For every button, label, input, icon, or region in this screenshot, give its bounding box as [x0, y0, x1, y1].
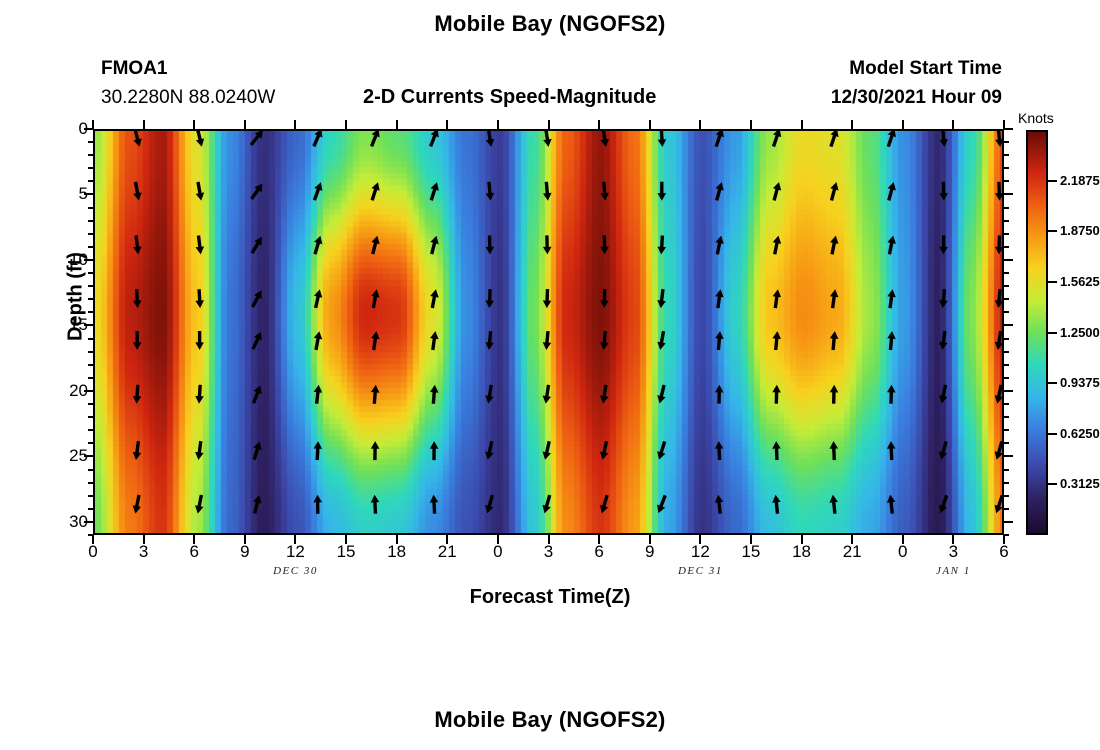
y-tick-minor — [1004, 246, 1009, 248]
y-tick-minor — [1004, 482, 1009, 484]
y-tick-mark — [84, 259, 93, 261]
x-tick-mark — [294, 535, 296, 544]
x-tick-mark — [396, 535, 398, 544]
x-tick-label: 21 — [427, 542, 467, 562]
current-vector-arrow — [887, 495, 896, 514]
x-tick-label: 0 — [883, 542, 923, 562]
x-tick-label: 0 — [73, 542, 113, 562]
current-vector-arrow — [430, 441, 439, 460]
y-tick-label: 15 — [48, 316, 88, 333]
y-tick-minor — [1004, 207, 1009, 209]
heatmap-plot-area — [93, 129, 1004, 535]
current-vector-arrow — [431, 182, 439, 200]
current-vector-arrow — [715, 289, 724, 308]
current-vector-arrow — [195, 495, 204, 514]
x-tick-mark — [750, 535, 752, 544]
current-vector-arrow — [716, 182, 724, 200]
x-tick-label: 9 — [630, 542, 670, 562]
current-vector-arrow — [887, 236, 896, 255]
current-vector-arrow — [715, 236, 723, 255]
current-vector-arrow — [657, 442, 665, 460]
x-tick-mark — [193, 535, 195, 544]
y-tick-minor — [1004, 429, 1009, 431]
y-tick-minor — [1004, 469, 1009, 471]
chart-page: Mobile Bay (NGOFS2) FMOA1 30.2280N 88.02… — [0, 0, 1100, 750]
x-tick-mark — [497, 535, 499, 544]
current-vector-arrow — [254, 385, 262, 403]
current-vector-arrow — [600, 289, 609, 308]
x-tick-mark — [699, 535, 701, 544]
x-tick-mark-top — [143, 120, 145, 129]
x-tick-mark — [598, 535, 600, 544]
y-tick-mark — [84, 324, 93, 326]
current-vector-arrow — [133, 289, 142, 308]
current-vector-arrow — [601, 131, 610, 147]
current-vector-arrow — [253, 442, 261, 460]
current-vector-arrow — [995, 182, 1004, 201]
current-vector-arrow — [133, 495, 141, 514]
x-tick-label: 21 — [832, 542, 872, 562]
y-tick-mark — [84, 455, 93, 457]
current-vector-arrow — [830, 385, 839, 404]
current-vector-arrow — [773, 289, 782, 308]
y-tick-minor — [1004, 311, 1009, 313]
x-tick-mark — [345, 535, 347, 544]
current-vector-arrow — [887, 289, 896, 308]
current-vector-arrow — [995, 385, 1003, 404]
colorbar-tick-mark — [1048, 332, 1057, 334]
station-coordinates-label: 30.2280N 88.0240W — [101, 87, 275, 109]
current-vector-arrow — [314, 289, 322, 308]
current-vector-arrow — [773, 182, 781, 200]
current-vector-arrow — [715, 331, 724, 350]
chart-subtitle: 2-D Currents Speed-Magnitude — [363, 86, 656, 109]
y-tick-mark — [84, 193, 93, 195]
current-vector-arrow — [995, 131, 1004, 147]
colorbar-tick-mark — [1048, 180, 1057, 182]
current-vector-arrow — [486, 235, 495, 254]
colorbar-tick-mark — [1048, 382, 1057, 384]
x-tick-mark-top — [952, 120, 954, 129]
x-tick-mark — [446, 535, 448, 544]
y-tick-label: 10 — [48, 251, 88, 268]
y-tick-minor — [1004, 154, 1009, 156]
model-start-time-value: 12/30/2021 Hour 09 — [831, 87, 1002, 109]
x-tick-label: 3 — [933, 542, 973, 562]
y-tick-minor — [1004, 508, 1009, 510]
current-vector-arrow — [133, 236, 142, 255]
x-tick-label: 12 — [275, 542, 315, 562]
current-vector-arrow — [196, 131, 204, 147]
y-tick-mark-right — [1004, 455, 1013, 457]
current-vector-arrow — [253, 290, 262, 307]
current-vector-arrow — [371, 331, 380, 350]
colorbar-tick-label: 1.5625 — [1060, 274, 1100, 289]
y-tick-minor — [1004, 180, 1009, 182]
y-tick-label: 25 — [48, 447, 88, 464]
current-vector-arrow — [829, 495, 838, 514]
y-tick-minor — [1004, 416, 1009, 418]
current-vector-arrow — [995, 289, 1004, 308]
current-vector-arrow — [830, 331, 839, 350]
current-vector-arrow — [995, 235, 1004, 254]
current-vector-arrow — [939, 289, 948, 308]
y-tick-minor — [1004, 495, 1009, 497]
y-axis-title: Depth (ft) — [65, 217, 88, 377]
current-vector-arrow — [715, 495, 724, 514]
x-tick-mark-top — [750, 120, 752, 129]
y-tick-label: 0 — [48, 120, 88, 137]
current-vector-arrow — [716, 131, 724, 147]
model-start-time-label: Model Start Time — [849, 58, 1002, 80]
x-tick-mark-top — [548, 120, 550, 129]
x-tick-mark-top — [92, 120, 94, 129]
current-vector-arrow — [657, 495, 665, 513]
x-tick-label: 3 — [529, 542, 569, 562]
current-vector-arrow — [888, 182, 896, 200]
station-id-label: FMOA1 — [101, 58, 168, 80]
x-tick-label: 6 — [579, 542, 619, 562]
current-vector-arrow — [543, 331, 552, 350]
current-vector-arrow — [430, 495, 439, 514]
current-vector-arrow — [773, 236, 782, 255]
y-tick-minor — [1004, 442, 1009, 444]
x-tick-mark-top — [649, 120, 651, 129]
current-vector-arrow — [715, 385, 724, 404]
colorbar-tick-mark — [1048, 483, 1057, 485]
current-vector-arrow — [431, 131, 439, 146]
current-vector-arrow — [657, 236, 666, 255]
colorbar-tick-mark — [1048, 230, 1057, 232]
current-vector-arrow — [430, 331, 439, 350]
current-vector-arrow — [430, 289, 439, 308]
current-vector-arrow — [543, 131, 552, 147]
current-vector-arrow — [133, 131, 141, 147]
y-tick-mark-right — [1004, 521, 1013, 523]
y-tick-minor — [1004, 364, 1009, 366]
current-vector-arrow — [196, 236, 205, 255]
x-tick-mark-top — [345, 120, 347, 129]
x-tick-mark-top — [294, 120, 296, 129]
x-tick-mark-top — [598, 120, 600, 129]
current-vector-arrow — [195, 331, 204, 350]
x-tick-mark — [244, 535, 246, 544]
current-vector-arrow — [251, 131, 263, 145]
current-vector-arrow — [600, 385, 609, 404]
x-tick-mark — [143, 535, 145, 544]
current-vector-arrow — [772, 495, 781, 514]
x-tick-mark-top — [193, 120, 195, 129]
current-vector-arrow — [543, 182, 552, 201]
colorbar-tick-label: 0.9375 — [1060, 375, 1100, 390]
current-vector-arrow — [939, 441, 947, 459]
y-tick-mark-right — [1004, 390, 1013, 392]
x-tick-label: 15 — [731, 542, 771, 562]
x-tick-mark — [851, 535, 853, 544]
current-vector-arrow — [133, 441, 142, 460]
colorbar-tick-label: 0.3125 — [1060, 476, 1100, 491]
page-title-bottom: Mobile Bay (NGOFS2) — [0, 707, 1100, 733]
current-vector-arrow — [133, 182, 141, 201]
x-tick-label: 12 — [680, 542, 720, 562]
current-vector-arrow — [486, 182, 495, 201]
x-tick-mark — [92, 535, 94, 544]
y-tick-minor — [1004, 272, 1009, 274]
current-vector-arrow — [486, 131, 495, 147]
current-vector-arrow — [313, 495, 322, 514]
x-tick-mark — [902, 535, 904, 544]
current-vector-arrow — [831, 131, 839, 147]
x-tick-mark — [1003, 535, 1005, 544]
colorbar-tick-mark — [1048, 281, 1057, 283]
current-vector-arrow — [658, 182, 667, 201]
current-vector-arrow — [543, 495, 551, 513]
current-vector-arrow — [600, 495, 608, 513]
current-vector-arrow — [939, 385, 947, 404]
current-vector-arrow — [830, 236, 838, 255]
current-vector-arrow — [314, 385, 323, 404]
y-tick-label: 5 — [48, 185, 88, 202]
y-tick-minor — [1004, 285, 1009, 287]
colorbar-title: Knots — [1018, 110, 1054, 126]
current-vector-arrow — [430, 385, 439, 404]
y-tick-mark — [84, 521, 93, 523]
current-vector-arrow — [314, 441, 323, 460]
current-vector-arrow — [657, 385, 665, 404]
current-vector-arrow — [887, 331, 896, 350]
current-vector-arrow — [657, 289, 666, 308]
current-vector-arrow — [600, 235, 609, 254]
current-vector-arrow — [772, 441, 781, 460]
current-vector-arrow — [543, 235, 552, 254]
current-vector-arrow — [371, 289, 379, 308]
current-vector-arrow — [195, 289, 204, 308]
current-vector-arrow — [314, 131, 323, 146]
current-vector-arrow — [995, 441, 1003, 459]
current-vector-arrow — [371, 441, 380, 460]
current-vector-arrow — [772, 331, 781, 350]
x-tick-label: 6 — [984, 542, 1024, 562]
current-vector-arrow — [830, 289, 839, 308]
x-tick-mark-top — [446, 120, 448, 129]
y-tick-minor — [1004, 220, 1009, 222]
x-tick-mark-top — [396, 120, 398, 129]
current-vector-arrow — [252, 184, 263, 200]
current-vector-arrow — [485, 495, 493, 513]
day-label: DEC 31 — [655, 565, 745, 577]
x-tick-mark-top — [902, 120, 904, 129]
current-vector-arrow — [830, 441, 839, 460]
x-tick-label: 6 — [174, 542, 214, 562]
current-vector-arrow — [939, 182, 948, 201]
y-tick-minor — [1004, 141, 1009, 143]
colorbar-tick-label: 2.1875 — [1060, 173, 1100, 188]
x-tick-mark — [649, 535, 651, 544]
current-vector-arrow — [253, 332, 262, 349]
colorbar-tick-label: 0.6250 — [1060, 426, 1100, 441]
current-vector-arrow — [940, 131, 949, 147]
current-vector-arrow — [600, 441, 608, 460]
current-vector-arrow — [658, 131, 667, 147]
x-tick-mark-top — [699, 120, 701, 129]
current-vector-arrow — [195, 385, 204, 404]
colorbar-tick-label: 1.2500 — [1060, 325, 1100, 340]
current-vector-arrow — [995, 495, 1003, 513]
current-vector-arrow — [543, 441, 551, 460]
current-vector-arrow — [485, 331, 494, 350]
y-tick-minor — [1004, 233, 1009, 235]
x-tick-mark-top — [497, 120, 499, 129]
current-vector-arrow — [371, 236, 379, 254]
current-vector-arrow — [939, 331, 948, 350]
x-tick-label: 0 — [478, 542, 518, 562]
current-vector-arrow — [485, 289, 494, 308]
current-vector-arrow — [133, 385, 142, 404]
x-tick-label: 18 — [782, 542, 822, 562]
y-tick-mark-right — [1004, 324, 1013, 326]
y-tick-mark-right — [1004, 193, 1013, 195]
y-tick-mark-right — [1004, 128, 1013, 130]
current-vector-arrow — [485, 441, 493, 460]
colorbar — [1026, 130, 1048, 535]
current-vector-arrow — [371, 495, 380, 514]
current-vector-arrow — [485, 385, 494, 404]
current-vector-arrow — [371, 385, 380, 404]
y-tick-minor — [1004, 403, 1009, 405]
y-tick-minor — [1004, 167, 1009, 169]
current-vector-arrow — [314, 331, 323, 350]
current-vector-arrow — [196, 182, 205, 201]
y-tick-label: 30 — [48, 513, 88, 530]
y-tick-minor — [1004, 298, 1009, 300]
x-tick-label: 3 — [124, 542, 164, 562]
current-vector-arrow — [253, 495, 261, 514]
current-vector-arrow — [939, 235, 948, 254]
y-tick-label: 20 — [48, 382, 88, 399]
colorbar-gradient — [1028, 132, 1046, 533]
colorbar-tick-label: 1.8750 — [1060, 223, 1100, 238]
x-tick-mark-top — [801, 120, 803, 129]
current-vector-arrow — [314, 182, 322, 200]
x-tick-mark-top — [851, 120, 853, 129]
current-vector-arrow — [372, 131, 380, 146]
x-tick-mark — [952, 535, 954, 544]
x-tick-label: 9 — [225, 542, 265, 562]
current-vector-arrow — [133, 331, 142, 350]
current-vector-arrow — [543, 289, 552, 308]
day-label: JAN 1 — [908, 565, 998, 577]
y-tick-minor — [1004, 338, 1009, 340]
current-vector-arrow — [887, 441, 896, 460]
current-vector-arrow — [995, 331, 1004, 350]
x-tick-mark — [801, 535, 803, 544]
x-tick-mark-top — [1003, 120, 1005, 129]
x-tick-mark — [548, 535, 550, 544]
y-tick-minor — [1004, 351, 1009, 353]
current-vector-arrow — [887, 385, 896, 404]
current-vector-arrow — [830, 182, 838, 200]
current-vector-arrow — [600, 182, 609, 201]
current-vector-arrow — [252, 237, 262, 253]
current-vector-arrow — [888, 131, 896, 147]
x-tick-mark-top — [244, 120, 246, 129]
current-vector-arrow — [543, 385, 552, 404]
day-label: DEC 30 — [250, 565, 340, 577]
page-title-top: Mobile Bay (NGOFS2) — [0, 11, 1100, 37]
current-vector-arrow — [372, 182, 380, 200]
current-vector-arrow — [657, 331, 665, 350]
x-tick-label: 15 — [326, 542, 366, 562]
y-tick-mark-right — [1004, 259, 1013, 261]
current-direction-arrows — [95, 131, 1004, 535]
x-tick-label: 18 — [377, 542, 417, 562]
current-vector-arrow — [600, 331, 609, 350]
current-vector-arrow — [939, 495, 947, 513]
current-vector-arrow — [773, 131, 781, 147]
y-tick-minor — [1004, 377, 1009, 379]
x-axis-title: Forecast Time(Z) — [0, 586, 1100, 609]
current-vector-arrow — [772, 385, 781, 404]
y-tick-mark — [84, 390, 93, 392]
current-vector-arrow — [314, 236, 322, 254]
current-vector-arrow — [195, 441, 204, 460]
colorbar-tick-mark — [1048, 433, 1057, 435]
current-vector-arrow — [715, 441, 724, 460]
current-vector-arrow — [430, 236, 438, 254]
